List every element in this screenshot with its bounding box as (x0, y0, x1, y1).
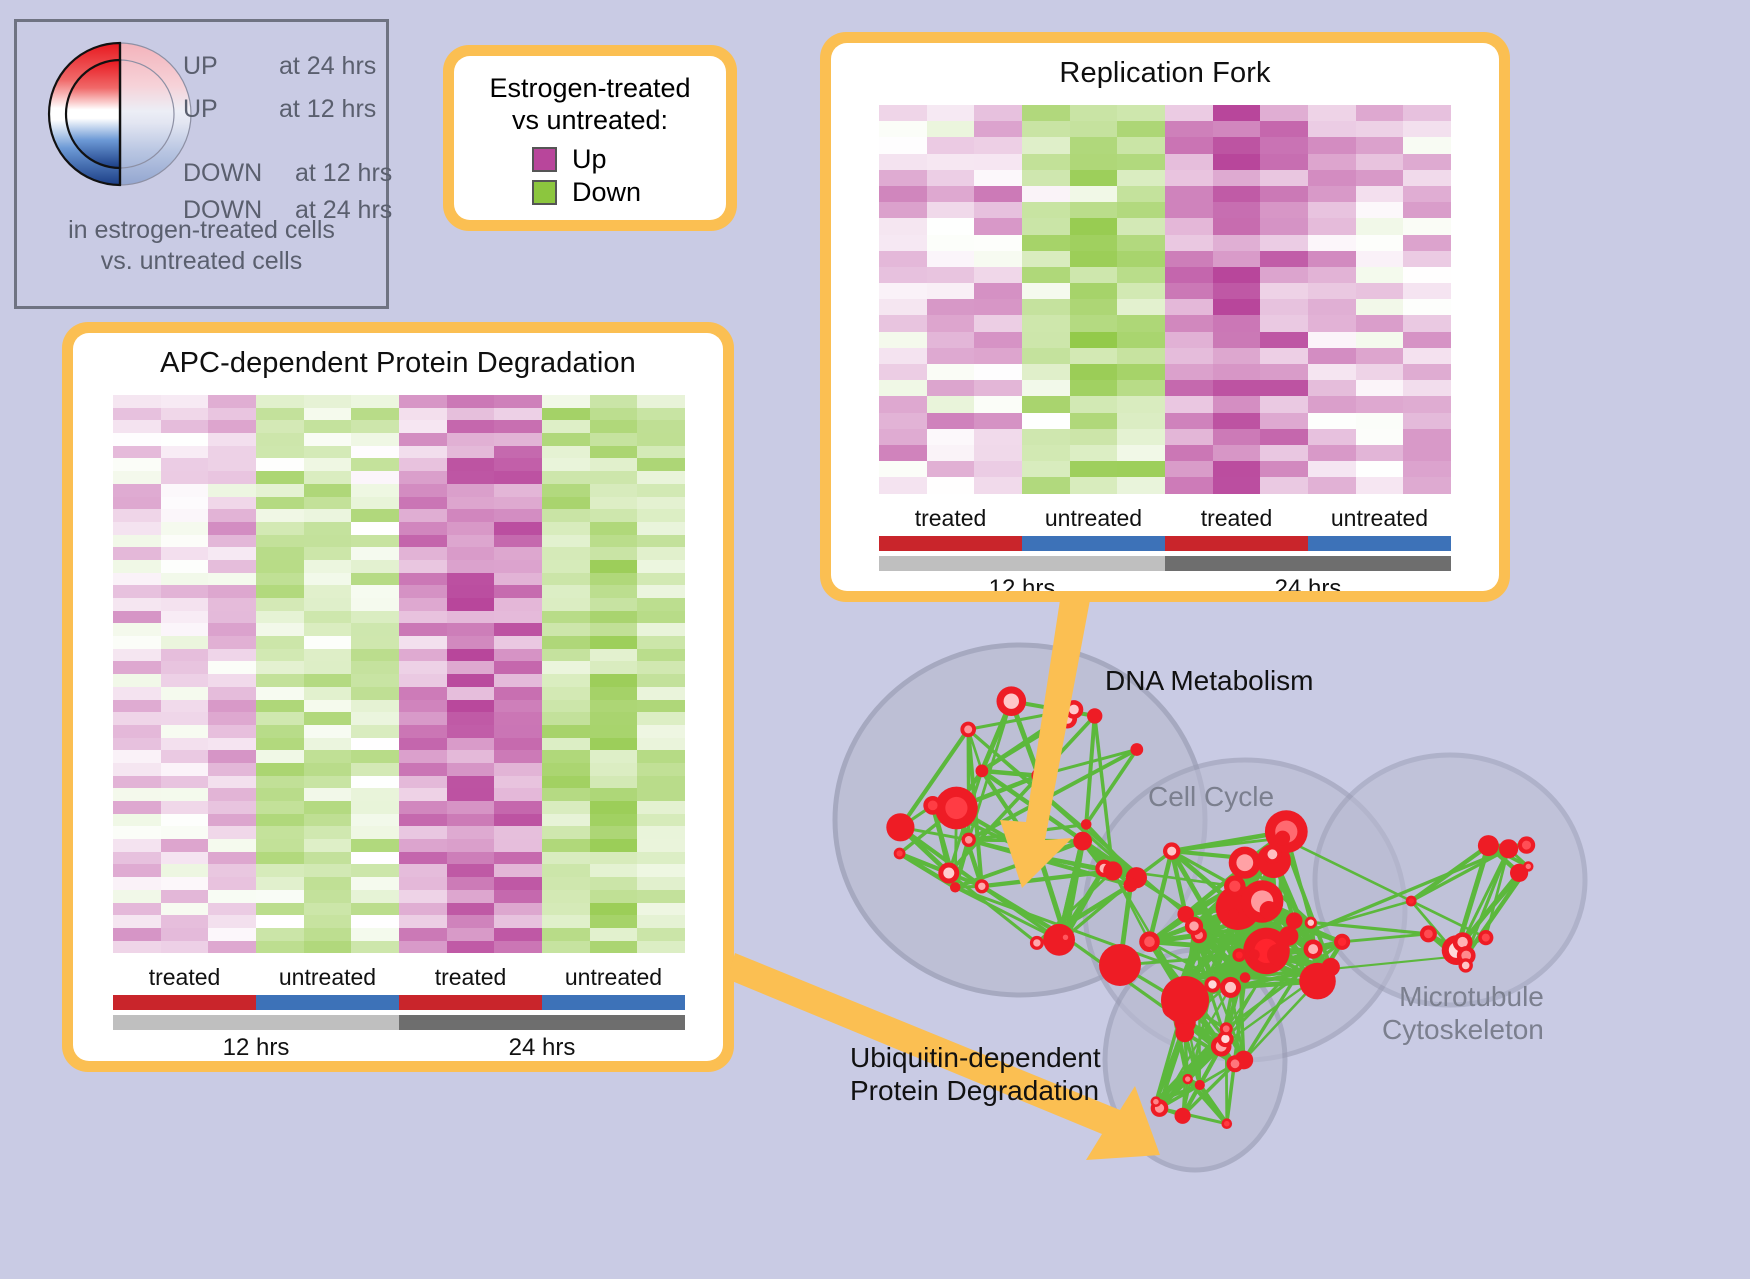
network-node[interactable] (886, 813, 914, 841)
heatmap-cell (113, 928, 161, 941)
network-node[interactable] (1260, 901, 1279, 920)
network-node[interactable] (1304, 940, 1323, 959)
heatmap-cell (927, 267, 975, 283)
heatmap-cell (304, 611, 352, 624)
heatmap-cell (208, 547, 256, 560)
heatmap-cell (590, 700, 638, 713)
heatmap-cell (1022, 218, 1070, 234)
network-node[interactable] (1183, 1074, 1193, 1084)
heatmap-cell (399, 573, 447, 586)
heatmap-cell (304, 864, 352, 877)
heatmap-cell (974, 267, 1022, 283)
network-node[interactable] (1334, 934, 1350, 950)
replication-condition-1: untreated (1022, 505, 1165, 532)
heatmap-cell (542, 776, 590, 789)
network-node[interactable] (1060, 932, 1070, 942)
heatmap-cell (637, 903, 685, 916)
heatmap-cell (304, 573, 352, 586)
heatmap-cell (1022, 170, 1070, 186)
heatmap-cell (351, 560, 399, 573)
apc-treatment-bar-untreated-24 (542, 995, 685, 1010)
heatmap-cell (304, 763, 352, 776)
heatmap-cell (1403, 170, 1451, 186)
network-node[interactable] (1523, 861, 1533, 871)
heatmap-cell (1260, 154, 1308, 170)
network-node[interactable] (1033, 850, 1046, 863)
heatmap-cell (1165, 332, 1213, 348)
heatmap-cell (161, 826, 209, 839)
heatmap-cell (494, 814, 542, 827)
heatmap-cell (161, 890, 209, 903)
heatmap-cell (113, 661, 161, 674)
network-node[interactable] (1065, 700, 1084, 719)
network-node[interactable] (976, 765, 989, 778)
network-node[interactable] (1103, 861, 1122, 880)
heatmap-cell (1308, 170, 1356, 186)
heatmap-cell (399, 890, 447, 903)
heatmap-cell (304, 814, 352, 827)
heatmap-cell (399, 471, 447, 484)
apc-time-12: 12 hrs (113, 1034, 399, 1061)
legend-item-down-label: Down (572, 179, 641, 206)
heatmap-cell (399, 636, 447, 649)
heatmap-cell (161, 522, 209, 535)
heatmap-cell (1403, 445, 1451, 461)
heatmap-cell (1022, 461, 1070, 477)
heatmap-cell (208, 522, 256, 535)
heatmap-cell (494, 509, 542, 522)
network-node[interactable] (1031, 768, 1046, 783)
heatmap-cell (494, 623, 542, 636)
heatmap-cell (304, 420, 352, 433)
heatmap-cell (256, 547, 304, 560)
heatmap-cell (879, 267, 927, 283)
heatmap-cell (208, 738, 256, 751)
heatmap-cell (113, 623, 161, 636)
figure-canvas: UP at 24 hrs UP at 12 hrs DOWN at 12 hrs… (0, 0, 1750, 1279)
heatmap-cell (351, 864, 399, 877)
heatmap-cell (256, 458, 304, 471)
heatmap-cell (1070, 413, 1118, 429)
network-node[interactable] (1478, 930, 1493, 945)
network-node[interactable] (1322, 958, 1340, 976)
network-node[interactable] (1420, 925, 1437, 942)
heatmap-cell (1165, 267, 1213, 283)
heatmap-cell (974, 461, 1022, 477)
heatmap-cell (1403, 218, 1451, 234)
heatmap-cell (351, 788, 399, 801)
network-node[interactable] (1185, 917, 1203, 935)
heatmap-cell (399, 750, 447, 763)
heatmap-cell (351, 852, 399, 865)
heatmap-cell (637, 509, 685, 522)
network-node[interactable] (1124, 878, 1138, 892)
heatmap-cell (161, 661, 209, 674)
heatmap-cell (256, 535, 304, 548)
heatmap-cell (1213, 283, 1261, 299)
cluster-label-cell-cycle: Cell Cycle (1148, 780, 1274, 813)
heatmap-cell (304, 484, 352, 497)
heatmap-cell (1165, 137, 1213, 153)
heatmap-cell (256, 661, 304, 674)
ring-legend-footer: in estrogen-treated cells vs. untreated … (17, 215, 386, 277)
heatmap-cell (304, 509, 352, 522)
ring-legend-label-up24: UP (183, 52, 218, 81)
heatmap-cell (113, 738, 161, 751)
network-node[interactable] (1163, 842, 1180, 859)
heatmap-cell (1070, 202, 1118, 218)
heatmap-cell (161, 585, 209, 598)
heatmap-cell (637, 814, 685, 827)
heatmap-cell (1117, 348, 1165, 364)
heatmap-cell (494, 420, 542, 433)
heatmap-cell (161, 497, 209, 510)
heatmap-cell (1117, 202, 1165, 218)
heatmap-cell (399, 661, 447, 674)
heatmap-cell (351, 725, 399, 738)
heatmap-cell (399, 738, 447, 751)
heatmap-cell (1070, 299, 1118, 315)
heatmap-cell (637, 700, 685, 713)
heatmap-cell (494, 458, 542, 471)
heatmap-cell (590, 801, 638, 814)
heatmap-cell (1165, 218, 1213, 234)
heatmap-cell (161, 928, 209, 941)
network-node[interactable] (1240, 972, 1251, 983)
heatmap-cell (1117, 251, 1165, 267)
heatmap-cell (637, 864, 685, 877)
network-node[interactable] (1220, 1022, 1233, 1035)
network-node[interactable] (938, 863, 959, 884)
heatmap-cell (1117, 477, 1165, 493)
network-node[interactable] (1227, 1055, 1244, 1072)
heatmap-cell (1260, 461, 1308, 477)
heatmap-cell (1117, 332, 1165, 348)
apc-time-bar-12hrs (113, 1015, 399, 1030)
network-node[interactable] (1263, 845, 1282, 864)
heatmap-cell (399, 623, 447, 636)
heatmap-cell (590, 611, 638, 624)
heatmap-cell (1356, 380, 1404, 396)
heatmap-cell (542, 408, 590, 421)
heatmap-cell (927, 332, 975, 348)
network-node[interactable] (1229, 847, 1261, 879)
heatmap-cell (494, 522, 542, 535)
heatmap-cell (304, 395, 352, 408)
heatmap-cell (256, 484, 304, 497)
network-node[interactable] (1030, 936, 1044, 950)
heatmap-cell (974, 332, 1022, 348)
heatmap-cell (542, 674, 590, 687)
heatmap-cell (590, 408, 638, 421)
heatmap-cell (161, 598, 209, 611)
heatmap-cell (494, 573, 542, 586)
heatmap-cell (542, 687, 590, 700)
network-node[interactable] (1175, 1108, 1191, 1124)
heatmap-cell (1213, 396, 1261, 412)
heatmap-cell (399, 497, 447, 510)
heatmap-cell (1022, 364, 1070, 380)
heatmap-cell (161, 877, 209, 890)
network-node[interactable] (1161, 976, 1209, 1024)
heatmap-cell (208, 763, 256, 776)
heatmap-cell (927, 315, 975, 331)
heatmap-cell (113, 852, 161, 865)
heatmap-cell (113, 535, 161, 548)
heatmap-cell (637, 458, 685, 471)
heatmap-cell (304, 623, 352, 636)
network-node[interactable] (894, 848, 906, 860)
heatmap-cell (113, 484, 161, 497)
heatmap-cell (208, 903, 256, 916)
heatmap-cell (1260, 429, 1308, 445)
network-node[interactable] (1232, 948, 1246, 962)
legend-item-down: Down (532, 176, 726, 209)
heatmap-cell (927, 283, 975, 299)
heatmap-cell (1308, 429, 1356, 445)
heatmap-cell (1260, 477, 1308, 493)
heatmap-cell (542, 433, 590, 446)
network-node[interactable] (950, 882, 960, 892)
heatmap-cell (1260, 202, 1308, 218)
heatmap-cell (637, 661, 685, 674)
heatmap-cell (399, 395, 447, 408)
heatmap-cell (256, 497, 304, 510)
heatmap-cell (351, 674, 399, 687)
network-node[interactable] (1081, 819, 1092, 830)
heatmap-cell (304, 547, 352, 560)
heatmap-cell (208, 636, 256, 649)
network-node[interactable] (962, 833, 976, 847)
network-node[interactable] (1305, 917, 1317, 929)
heatmap-cell (494, 915, 542, 928)
network-node[interactable] (1175, 1023, 1194, 1042)
heatmap-cell (113, 446, 161, 459)
heatmap-cell (161, 864, 209, 877)
network-node[interactable] (1130, 743, 1143, 756)
heatmap-cell (542, 522, 590, 535)
heatmap-cell (1308, 364, 1356, 380)
heatmap-cell (879, 251, 927, 267)
heatmap-cell (161, 725, 209, 738)
heatmap-cell (208, 484, 256, 497)
heatmap-cell (256, 636, 304, 649)
heatmap-cell (447, 674, 495, 687)
network-node[interactable] (1139, 931, 1160, 952)
heatmap-cell (256, 623, 304, 636)
network-node[interactable] (1228, 909, 1239, 920)
heatmap-cell (113, 408, 161, 421)
heatmap-cell (590, 522, 638, 535)
heatmap-cell (1356, 413, 1404, 429)
heatmap-cell (113, 941, 161, 954)
heatmap-cell (161, 903, 209, 916)
treatment-bar-untreated-24 (1308, 536, 1451, 551)
heatmap-cell (1117, 429, 1165, 445)
heatmap-cell (256, 776, 304, 789)
heatmap-cell (113, 522, 161, 535)
heatmap-cell (1260, 348, 1308, 364)
heatmap-cell (637, 408, 685, 421)
network-node[interactable] (1151, 1096, 1162, 1107)
heatmap-cell (1308, 267, 1356, 283)
heatmap-cell (637, 623, 685, 636)
heatmap-cell (447, 661, 495, 674)
heatmap-cell (879, 461, 927, 477)
heatmap-cell (1213, 170, 1261, 186)
heatmap-cell (590, 864, 638, 877)
network-node[interactable] (960, 722, 976, 738)
heatmap-cell (1022, 413, 1070, 429)
heatmap-cell (399, 408, 447, 421)
network-node[interactable] (1195, 1080, 1205, 1090)
heatmap-cell (494, 560, 542, 573)
heatmap-cell (494, 738, 542, 751)
network-node[interactable] (1275, 831, 1290, 846)
heatmap-cell (399, 712, 447, 725)
heatmap-cell (542, 471, 590, 484)
network-node[interactable] (1279, 926, 1298, 945)
network-node[interactable] (1499, 839, 1518, 858)
heatmap-cell (351, 814, 399, 827)
heatmap-cell (161, 852, 209, 865)
heatmap-cell (208, 573, 256, 586)
heatmap-cell (351, 826, 399, 839)
heatmap-cell (637, 928, 685, 941)
network-node[interactable] (923, 796, 942, 815)
heatmap-cell (161, 687, 209, 700)
heatmap-cell (304, 915, 352, 928)
heatmap-cell (1022, 251, 1070, 267)
heatmap-cell (974, 299, 1022, 315)
treatment-bar-untreated-12 (1022, 536, 1165, 551)
network-node[interactable] (1222, 1118, 1233, 1129)
heatmap-cell (1260, 235, 1308, 251)
heatmap-cell (1117, 121, 1165, 137)
heatmap-cell (542, 877, 590, 890)
replication-time-labels: 12 hrs 24 hrs (879, 575, 1451, 592)
network-node[interactable] (1249, 949, 1260, 960)
heatmap-cell (494, 598, 542, 611)
heatmap-cell (1260, 186, 1308, 202)
heatmap-cell (447, 852, 495, 865)
network-node[interactable] (1073, 832, 1092, 851)
heatmap-cell (637, 471, 685, 484)
heatmap-cell (974, 202, 1022, 218)
heatmap-cell (1403, 429, 1451, 445)
heatmap-cell (351, 458, 399, 471)
heatmap-cell (256, 433, 304, 446)
heatmap-cell (1403, 105, 1451, 121)
heatmap-cell (208, 826, 256, 839)
heatmap-cell (1260, 137, 1308, 153)
heatmap-cell (590, 598, 638, 611)
heatmap-cell (1022, 445, 1070, 461)
heatmap-cell (161, 560, 209, 573)
heatmap-cell (399, 928, 447, 941)
replication-heatmap (879, 105, 1451, 494)
heatmap-cell (590, 674, 638, 687)
heatmap-cell (1070, 137, 1118, 153)
network-node[interactable] (1459, 958, 1473, 972)
heatmap-cell (494, 433, 542, 446)
network-node[interactable] (1220, 977, 1241, 998)
heatmap-cell (927, 348, 975, 364)
heatmap-cell (208, 839, 256, 852)
heatmap-cell (256, 522, 304, 535)
heatmap-cell (927, 396, 975, 412)
network-node[interactable] (1099, 944, 1141, 986)
heatmap-cell (590, 623, 638, 636)
heatmap-cell (590, 941, 638, 954)
heatmap-cell (447, 826, 495, 839)
network-node[interactable] (1478, 835, 1499, 856)
heatmap-cell (113, 433, 161, 446)
heatmap-cell (494, 776, 542, 789)
network-node[interactable] (1224, 875, 1246, 897)
heatmap-cell (637, 420, 685, 433)
heatmap-cell (1165, 154, 1213, 170)
heatmap-cell (447, 763, 495, 776)
heatmap-cell (304, 585, 352, 598)
heatmap-cell (161, 738, 209, 751)
heatmap-cell (494, 725, 542, 738)
heatmap-cell (1165, 364, 1213, 380)
heatmap-cell (494, 877, 542, 890)
heatmap-cell (351, 763, 399, 776)
heatmap-cell (399, 839, 447, 852)
heatmap-cell (1070, 461, 1118, 477)
network-node[interactable] (1518, 836, 1535, 853)
network-node[interactable] (1267, 944, 1289, 966)
heatmap-cell (1022, 396, 1070, 412)
heatmap-cell (1117, 445, 1165, 461)
heatmap-cell (351, 890, 399, 903)
ring-legend-label-down12: DOWN (183, 159, 262, 188)
heatmap-cell (208, 915, 256, 928)
heatmap-cell (927, 218, 975, 234)
heatmap-cell (256, 814, 304, 827)
heatmap-cell (1403, 251, 1451, 267)
network-node[interactable] (997, 686, 1027, 716)
heatmap-cell (256, 408, 304, 421)
heatmap-cell (494, 395, 542, 408)
network-node[interactable] (1087, 708, 1102, 723)
heatmap-cell (1022, 267, 1070, 283)
network-node[interactable] (1043, 924, 1075, 956)
replication-heatmap-area: treated untreated treated untreated 12 h (879, 105, 1451, 591)
heatmap-cell (256, 852, 304, 865)
heatmap-cell (304, 750, 352, 763)
heatmap-cell (256, 750, 304, 763)
heatmap-cell (304, 738, 352, 751)
heatmap-cell (494, 864, 542, 877)
heatmap-cell (351, 497, 399, 510)
replication-condition-2: treated (1165, 505, 1308, 532)
heatmap-cell (1356, 251, 1404, 267)
heatmap-cell (1213, 235, 1261, 251)
heatmap-cell (590, 915, 638, 928)
apc-treatment-bar (113, 995, 685, 1010)
heatmap-cell (1308, 251, 1356, 267)
heatmap-cell (542, 788, 590, 801)
network-node[interactable] (975, 879, 989, 893)
heatmap-cell (974, 186, 1022, 202)
network-node[interactable] (1406, 896, 1417, 907)
heatmap-cell (542, 763, 590, 776)
heatmap-cell (1117, 218, 1165, 234)
heatmap-cell (1308, 315, 1356, 331)
